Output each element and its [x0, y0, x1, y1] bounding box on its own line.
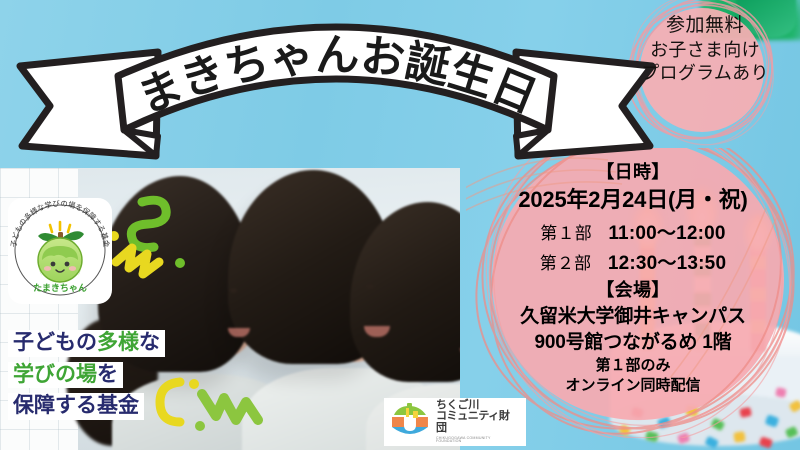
event-poster: たまきちゃんお誕生日会 参加無料 お子さま向け プログラムあり 【日時】 202… — [0, 0, 800, 450]
title-banner: たまきちゃんお誕生日会 — [6, 10, 666, 160]
tagline-line-1: 子どもの多様な — [8, 330, 165, 357]
session-2-time: 12:30〜13:50 — [608, 253, 726, 274]
venue-line-2: 900号館つながるめ 1階 — [462, 330, 800, 356]
venue-heading: 【会場】 — [462, 278, 800, 304]
session-2-label: 第２部 — [540, 254, 592, 273]
foundation-name-en2: FOUNDATION — [436, 440, 520, 444]
tagline-1b: 多様 — [97, 330, 139, 354]
foundation-name-line2: コミュニティ財団 — [436, 411, 520, 434]
chikugogawa-foundation-logo: ちくご川 コミュニティ財団 CHIKUGOGAWA COMMUNITY FOUN… — [384, 398, 526, 446]
tagline-3a: 保障する基金 — [13, 393, 139, 417]
tagline-line-3: 保障する基金 — [8, 393, 144, 420]
tagline-2a: 学びの場 — [13, 362, 97, 386]
event-info-block: 【日時】 2025年2月24日(月・祝) 第１部 11:00〜12:00 第２部… — [462, 160, 800, 396]
free-admission-badge: 参加無料 お子さま向け プログラムあり — [612, 14, 798, 85]
tamaki-chan-logo: 子どもの多様な学びの場を保障する基金 — [8, 198, 112, 304]
session-1-label: 第１部 — [540, 224, 592, 243]
tamaki-mascot-name: たまきちゃん — [33, 283, 87, 294]
free-badge-line3: プログラムあり — [612, 62, 798, 85]
session-row-1: 第１部 11:00〜12:00 — [462, 219, 800, 248]
stream-line-2: オンライン同時配信 — [462, 376, 800, 396]
free-badge-line1: 参加無料 — [612, 14, 798, 39]
tagline-2b: を — [97, 362, 118, 386]
free-badge-line2: お子さま向け — [612, 39, 798, 62]
stream-line-1: 第１部のみ — [462, 356, 800, 376]
tamaki-mascot-icon: 子どもの多様な学びの場を保障する基金 — [8, 198, 112, 304]
datetime-heading: 【日時】 — [462, 160, 800, 186]
session-1-time: 11:00〜12:00 — [608, 223, 725, 244]
session-row-2: 第２部 12:30〜13:50 — [462, 249, 800, 278]
tagline-line-2: 学びの場を — [8, 362, 123, 389]
foundation-mark-icon — [390, 403, 430, 441]
venue-line-1: 久留米大学御井キャンパス — [462, 304, 800, 330]
tagline-1a: 子どもの — [13, 330, 97, 354]
tagline-1c: な — [139, 330, 160, 354]
event-date: 2025年2月24日(月・祝) — [462, 186, 800, 215]
fund-tagline: 子どもの多様な 学びの場を 保障する基金 — [8, 330, 213, 425]
squiggle-decoration-top — [96, 190, 206, 310]
